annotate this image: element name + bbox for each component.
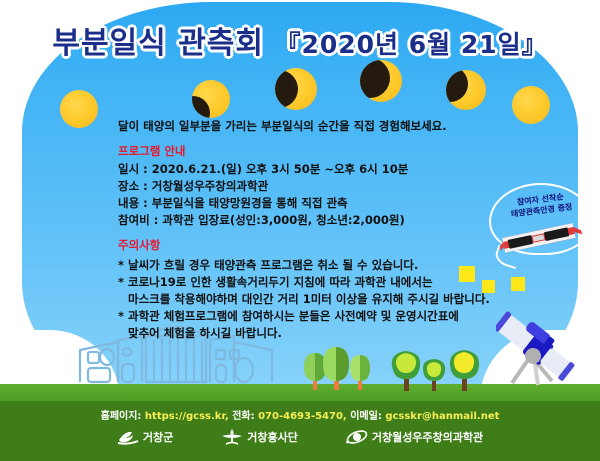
notice-heading: 주의사항 (118, 237, 518, 254)
notice-list: * 날씨가 흐릴 경우 태양관측 프로그램은 취소 될 수 있습니다. * 코로… (118, 257, 518, 342)
moon-disc (192, 96, 210, 118)
logo-label: 거창월성우주창의과학관 (372, 429, 483, 445)
footer-logo-row: 거창군 거창흥사단 거창월성우주창의과학관 (0, 428, 600, 446)
program-item-content: 내용 : 부분일식을 태양망원경을 통해 직접 관측 (118, 195, 518, 212)
logo-geochang-gun: 거창군 (117, 428, 173, 446)
program-heading: 프로그램 안내 (118, 143, 518, 160)
giveaway-speech-bubble: 참여자 선착순 태양관측안경 증정 (489, 183, 593, 255)
program-item-location: 장소 : 거창월성우주창의과학관 (118, 178, 518, 195)
program-item-datetime: 일시 : 2020.6.21.(일) 오후 3시 50분 ~오후 6시 10분 (118, 161, 518, 178)
phone-label: 전화: (232, 411, 254, 422)
notice-item-weather: * 날씨가 흐릴 경우 태양관측 프로그램은 취소 될 수 있습니다. (118, 257, 518, 274)
geochang-gun-emblem-icon (117, 428, 139, 446)
tree-icon (450, 350, 479, 391)
program-item-fee: 참여비 : 과학관 입장료(성인:3,000원, 청소년:2,000원) (118, 212, 518, 229)
homepage-value[interactable]: https://gcss.kr, (145, 411, 229, 422)
poster-body: 달이 태양의 일부분을 가리는 부분일식의 순간을 직접 경험해보세요. 프로그… (118, 118, 518, 342)
title-date-text: 『2020년 6월 21일』 (275, 30, 547, 59)
tree-icon (423, 359, 445, 391)
notice-item-covid-1: * 코로나19로 인한 생활속거리두기 지침에 따라 과학관 내에서는 (118, 274, 518, 291)
title-main-text: 부분일식 관측회 (52, 26, 264, 61)
science-museum-emblem-icon (346, 428, 368, 446)
moon-disc (360, 60, 390, 98)
poster-title: 부분일식 관측회 『2020년 6월 21일』 (52, 18, 547, 62)
tree-icon (350, 355, 370, 390)
homepage-label: 홈페이지: (101, 411, 142, 422)
email-value[interactable]: gcsskr@hanmail.net (385, 411, 499, 422)
notice-item-reservation-1: * 과학관 체험프로그램에 참여하시는 분들은 사전예약 및 운영시간표에 (118, 308, 518, 325)
tree-icon (304, 353, 326, 390)
footer-contact-line: 홈페이지: https://gcss.kr, 전화: 070-4693-5470… (0, 407, 600, 422)
notice-item-covid-2: 마스크를 착용해야하며 대인간 거리 1미터 이상을 유지해 주시길 바랍니다. (118, 291, 518, 308)
tree-icon (323, 347, 349, 390)
lead-text: 달이 태양의 일부분을 가리는 부분일식의 순간을 직접 경험해보세요. (118, 118, 518, 135)
email-label: 이메일: (350, 411, 382, 422)
logo-label: 거창흥사단 (247, 429, 298, 445)
poster-title-block: 부분일식 관측회 『2020년 6월 21일』 (0, 18, 600, 62)
heungsadan-emblem-icon (221, 428, 243, 446)
eclipse-phase-2-icon (275, 68, 317, 110)
tree-icon (392, 351, 420, 391)
poster-root: 부분일식 관측회 『2020년 6월 21일』 달이 태양의 일부분을 가리는 … (0, 0, 600, 461)
eclipse-phase-sequence (0, 58, 600, 118)
logo-geochang-heungsadan: 거창흥사단 (221, 428, 298, 446)
footer-bar: 홈페이지: https://gcss.kr, 전화: 070-4693-5470… (0, 401, 600, 461)
notice-item-reservation-2: 맞추어 체험을 하시길 바랍니다. (118, 325, 518, 342)
telescope-icon (496, 309, 588, 387)
eclipse-phase-4-icon (446, 70, 486, 110)
eclipse-phase-1-icon (192, 80, 230, 118)
logo-label: 거창군 (143, 429, 173, 445)
logo-geochang-wolseong-science-museum: 거창월성우주창의과학관 (346, 428, 483, 446)
eclipse-phase-3-icon (360, 60, 402, 102)
phone-value: 070-4693-5470, (258, 411, 347, 422)
moon-disc (446, 70, 468, 102)
eclipse-phase-5-icon (60, 90, 98, 128)
moon-disc (275, 70, 298, 108)
